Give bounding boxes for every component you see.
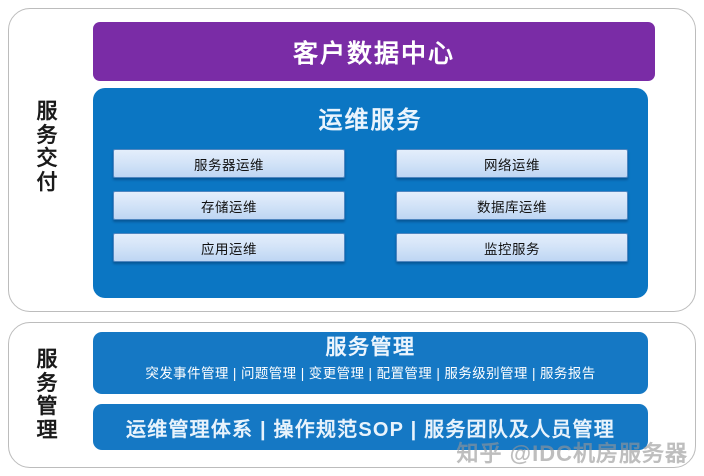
service-item-label: 网络运维 bbox=[484, 154, 540, 174]
side-label-char-2: 务 bbox=[24, 372, 70, 396]
service-item-label: 应用运维 bbox=[201, 238, 257, 258]
service-delivery-side-label: 服 务 交 付 bbox=[24, 100, 70, 194]
service-item-application-ops[interactable]: 应用运维 bbox=[113, 233, 345, 262]
service-item-storage-ops[interactable]: 存储运维 bbox=[113, 191, 345, 220]
side-label-char-1: 服 bbox=[24, 348, 70, 372]
side-label-char-1: 服 bbox=[24, 100, 70, 124]
ops-management-system-title: 运维管理体系 | 操作规范SOP | 服务团队及人员管理 bbox=[126, 413, 615, 442]
service-item-database-ops[interactable]: 数据库运维 bbox=[396, 191, 628, 220]
ops-service-title: 运维服务 bbox=[93, 100, 648, 135]
side-label-char-4: 付 bbox=[24, 171, 70, 195]
ops-service-grid: 服务器运维 网络运维 存储运维 数据库运维 应用运维 监控服务 bbox=[113, 149, 628, 262]
service-item-label: 服务器运维 bbox=[194, 154, 264, 174]
customer-data-center-box: 客户数据中心 bbox=[93, 22, 655, 81]
ops-service-panel: 运维服务 服务器运维 网络运维 存储运维 数据库运维 应用运维 监控服务 bbox=[93, 88, 648, 298]
service-management-main-bar: 服务管理 突发事件管理 | 问题管理 | 变更管理 | 配置管理 | 服务级别管… bbox=[93, 332, 648, 394]
service-item-server-ops[interactable]: 服务器运维 bbox=[113, 149, 345, 178]
side-label-char-2: 务 bbox=[24, 124, 70, 148]
service-item-monitoring-service[interactable]: 监控服务 bbox=[396, 233, 628, 262]
side-label-char-4: 理 bbox=[24, 419, 70, 443]
service-management-side-label: 服 务 管 理 bbox=[24, 348, 70, 442]
service-item-network-ops[interactable]: 网络运维 bbox=[396, 149, 628, 178]
side-label-char-3: 管 bbox=[24, 395, 70, 419]
customer-data-center-title: 客户数据中心 bbox=[293, 34, 455, 70]
ops-management-system-bar: 运维管理体系 | 操作规范SOP | 服务团队及人员管理 bbox=[93, 404, 648, 450]
service-item-label: 存储运维 bbox=[201, 196, 257, 216]
service-management-title: 服务管理 bbox=[93, 335, 648, 361]
side-label-char-3: 交 bbox=[24, 147, 70, 171]
service-management-subtitle: 突发事件管理 | 问题管理 | 变更管理 | 配置管理 | 服务级别管理 | 服… bbox=[93, 362, 648, 382]
service-item-label: 监控服务 bbox=[484, 238, 540, 258]
diagram-canvas: 服 务 交 付 客户数据中心 运维服务 服务器运维 网络运维 存储运维 数据库运… bbox=[0, 0, 704, 476]
service-item-label: 数据库运维 bbox=[477, 196, 547, 216]
